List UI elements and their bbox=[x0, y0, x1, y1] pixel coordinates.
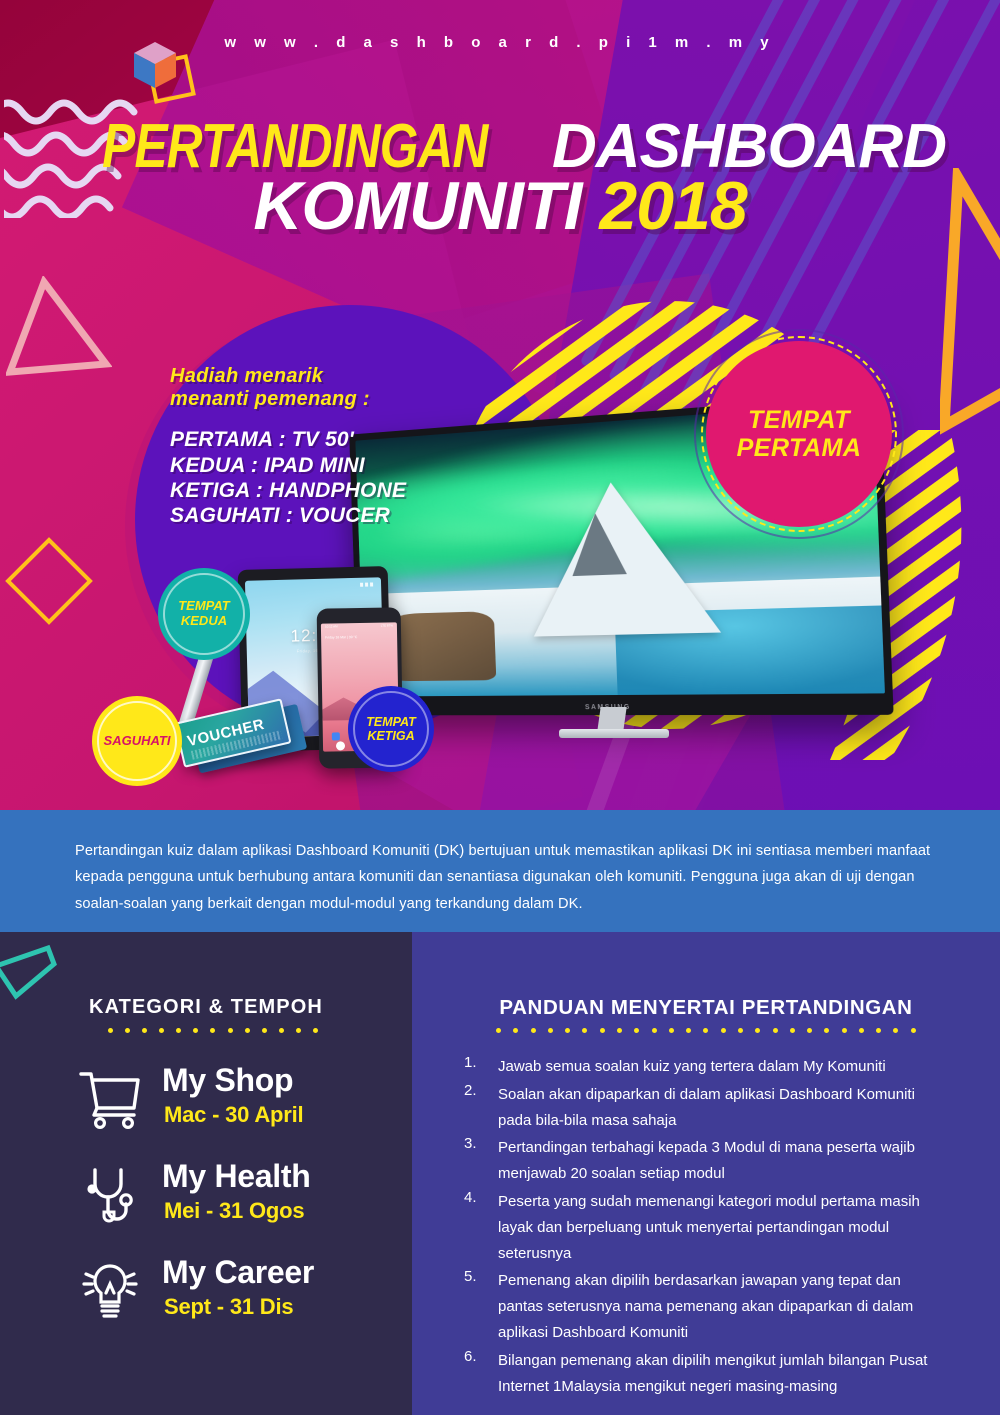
prize-heading: Hadiah menarik menanti pemenang : bbox=[170, 365, 500, 411]
guide-item-text: Bilangan pemenang akan dipilih mengikut … bbox=[498, 1348, 942, 1400]
hero-section: SAMSUNG 12:45 Friday, 16 March bbox=[0, 0, 1000, 812]
prize-heading-line1: Hadiah menarik bbox=[170, 365, 500, 388]
categories-title: KATEGORI & TEMPOH bbox=[0, 996, 412, 1019]
poster: SAMSUNG 12:45 Friday, 16 March bbox=[0, 0, 1000, 1415]
badge-second-line2: KEDUA bbox=[181, 614, 227, 629]
description-band: Pertandingan kuiz dalam aplikasi Dashboa… bbox=[0, 810, 1000, 932]
guide-item-number: 4. bbox=[464, 1189, 498, 1266]
guide-item-text: Pertandingan terbahagi kepada 3 Modul di… bbox=[498, 1135, 942, 1187]
bottom-section: KATEGORI & TEMPOH My Shop Mac - 30 April bbox=[0, 932, 1000, 1415]
prize-item: KEDUA : IPAD MINI bbox=[170, 453, 500, 478]
list-item: 1. Jawab semua soalan kuiz yang tertera … bbox=[464, 1054, 942, 1080]
shopping-cart-icon bbox=[78, 1068, 142, 1130]
category-name: My Shop bbox=[162, 1062, 293, 1099]
list-item: My Career Sept - 31 Dis bbox=[78, 1252, 408, 1346]
prize-heading-line2: menanti pemenang : bbox=[170, 388, 500, 411]
categories-dot-divider bbox=[108, 1028, 318, 1033]
phone-status-time: 10:12 AM bbox=[325, 624, 338, 628]
title-year: 2018 bbox=[599, 168, 746, 244]
pink-triangle-decoration bbox=[6, 276, 112, 384]
guide-item-number: 6. bbox=[464, 1348, 498, 1400]
list-item: 3. Pertandingan terbahagi kepada 3 Modul… bbox=[464, 1135, 942, 1187]
list-item: 5. Pemenang akan dipilih berdasarkan jaw… bbox=[464, 1268, 942, 1345]
phone-weather-widget: Friday 16 Mar | 30 °C bbox=[325, 635, 357, 640]
prize-item: SAGUHATI : VOUCER bbox=[170, 503, 500, 528]
badge-second-place: TEMPAT KEDUA bbox=[158, 568, 250, 660]
website-url: w w w . d a s h b o a r d . p i 1 m . m … bbox=[0, 34, 1000, 51]
tablet-status-icons bbox=[360, 582, 373, 586]
tv-stand bbox=[559, 707, 669, 741]
badge-consolation-label: SAGUHATI bbox=[104, 734, 171, 749]
page-title: PERTANDINGAN DASHBOARD KOMUNITI 2018 bbox=[0, 118, 1000, 238]
category-name: My Health bbox=[162, 1158, 310, 1195]
badge-third-line1: TEMPAT bbox=[366, 715, 416, 729]
guide-item-text: Peserta yang sudah memenangi kategori mo… bbox=[498, 1189, 942, 1266]
categories-list: My Shop Mac - 30 April My Health Mei - 3… bbox=[78, 1060, 408, 1348]
guide-item-number: 2. bbox=[464, 1082, 498, 1134]
badge-consolation: SAGUHATI bbox=[92, 696, 182, 786]
guide-item-number: 3. bbox=[464, 1135, 498, 1187]
guide-item-text: Pemenang akan dipilih berdasarkan jawapa… bbox=[498, 1268, 942, 1345]
list-item: 6. Bilangan pemenang akan dipilih mengik… bbox=[464, 1348, 942, 1400]
description-text: Pertandingan kuiz dalam aplikasi Dashboa… bbox=[75, 838, 938, 917]
guide-item-number: 1. bbox=[464, 1054, 498, 1080]
badge-second-line1: TEMPAT bbox=[178, 599, 230, 614]
prize-item: PERTAMA : TV 50' bbox=[170, 427, 500, 452]
badge-third-line2: KETIGA bbox=[367, 729, 414, 743]
teal-quadrilateral-decoration bbox=[0, 944, 60, 1000]
phone-status-battery: LTE 87% bbox=[381, 623, 393, 627]
guide-item-text: Soalan akan dipaparkan di dalam aplikasi… bbox=[498, 1082, 942, 1134]
category-period: Mei - 31 Ogos bbox=[164, 1198, 304, 1224]
list-item: My Health Mei - 31 Ogos bbox=[78, 1156, 408, 1250]
prize-list-block: Hadiah menarik menanti pemenang : PERTAM… bbox=[170, 365, 500, 528]
category-period: Mac - 30 April bbox=[164, 1102, 303, 1128]
badge-first-place: TEMPAT PERTAMA bbox=[710, 345, 888, 523]
list-item: 4. Peserta yang sudah memenangi kategori… bbox=[464, 1189, 942, 1266]
guide-item-text: Jawab semua soalan kuiz yang tertera dal… bbox=[498, 1054, 942, 1080]
category-period: Sept - 31 Dis bbox=[164, 1294, 293, 1320]
mountain-peak-graphic bbox=[570, 512, 627, 576]
lightbulb-icon bbox=[78, 1260, 142, 1322]
list-item: My Shop Mac - 30 April bbox=[78, 1060, 408, 1154]
prize-items: PERTAMA : TV 50' KEDUA : IPAD MINI KETIG… bbox=[170, 427, 500, 528]
prize-item: KETIGA : HANDPHONE bbox=[170, 478, 500, 503]
phone-status-bar: 10:12 AM LTE 87% bbox=[321, 623, 397, 628]
list-item: 2. Soalan akan dipaparkan di dalam aplik… bbox=[464, 1082, 942, 1134]
badge-first-line1: TEMPAT bbox=[748, 406, 850, 434]
guide-dot-divider bbox=[496, 1028, 916, 1033]
guide-title: PANDUAN MENYERTAI PERTANDINGAN bbox=[412, 996, 1000, 1020]
title-pertandingan: PERTANDINGAN bbox=[102, 118, 487, 175]
stethoscope-icon bbox=[78, 1164, 142, 1226]
guide-item-number: 5. bbox=[464, 1268, 498, 1345]
category-name: My Career bbox=[162, 1254, 314, 1291]
badge-first-line2: PERTAMA bbox=[737, 434, 862, 462]
guide-list: 1. Jawab semua soalan kuiz yang tertera … bbox=[464, 1054, 942, 1401]
badge-third-place: TEMPAT KETIGA bbox=[348, 686, 434, 772]
